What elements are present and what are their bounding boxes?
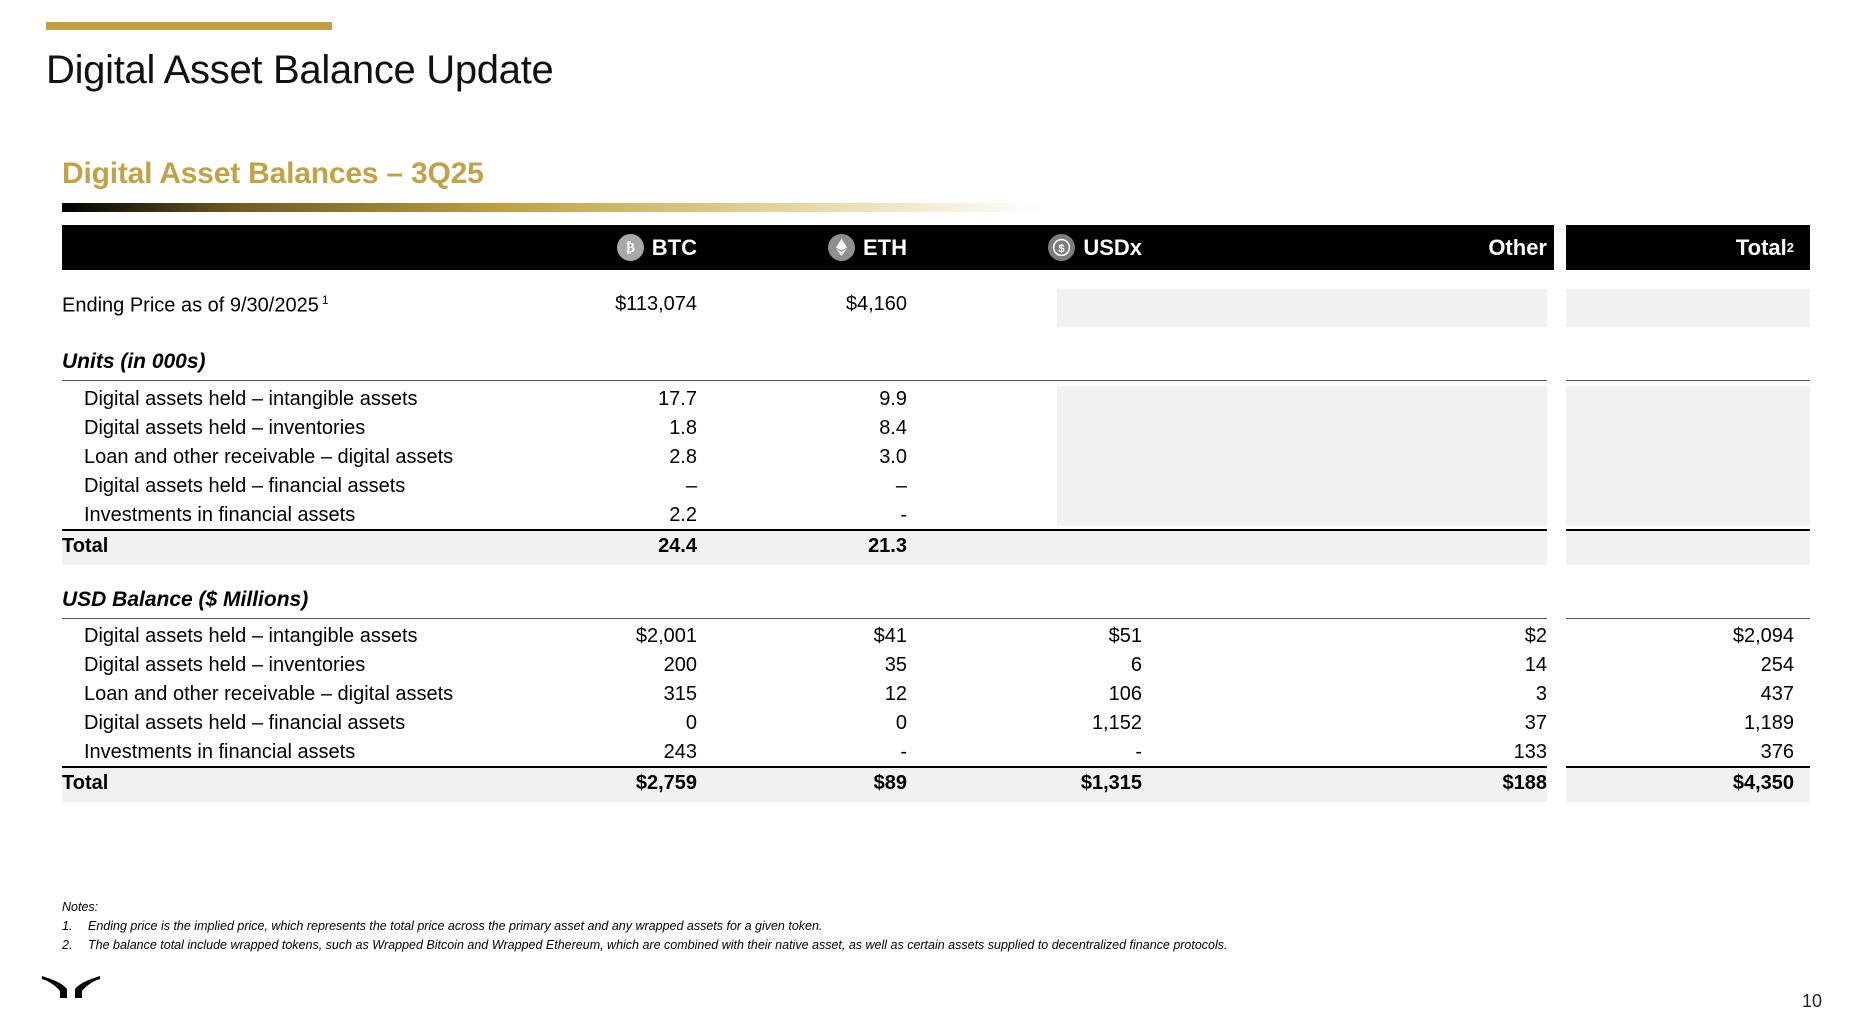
footnotes: Notes: 1. Ending price is the implied pr… [62,898,1362,954]
table-row: Digital assets held – inventories 200 35… [62,654,1802,683]
column-header-total-superscript: 2 [1787,240,1794,255]
cell-total: 254 [1566,654,1794,677]
column-header-total-label: Total [1736,235,1787,261]
table-row: Digital assets held – financial assets –… [62,475,1802,504]
section-rule-units-total [1566,380,1810,381]
footnote-text: Ending price is the implied price, which… [88,917,1362,936]
svg-text:₿: ₿ [626,240,635,255]
cell-eth: 12 [792,683,907,706]
cell-usdx: 106 [982,683,1142,706]
section-rule-units-left [62,380,1547,381]
cell-usdx: - [982,741,1142,764]
cell-other: 3 [1172,683,1547,706]
table-row: Digital assets held – intangible assets … [62,625,1802,654]
row-label: Loan and other receivable – digital asse… [84,683,453,706]
cell-price-btc: $113,074 [582,293,697,316]
cell-total-total: $4,350 [1566,772,1794,795]
cell-btc: 243 [582,741,697,764]
cell-eth: - [792,504,907,527]
row-label-ending-price: Ending Price as of 9/30/20251 [62,293,329,318]
cell-btc: 0 [582,712,697,735]
usd-coin-icon: $ [1048,234,1075,261]
cell-btc: 2.2 [582,504,697,527]
row-label: Digital assets held – intangible assets [84,625,418,648]
cell-eth: 35 [792,654,907,677]
cell-btc: 200 [582,654,697,677]
cell-other: $2 [1172,625,1547,648]
column-header-other-label: Other [1488,235,1547,261]
cell-total: 437 [1566,683,1794,706]
section-gradient-rule [62,203,1042,212]
cell-total-eth: 21.3 [792,535,907,558]
table-row-total-usd: Total $2,759 $89 $1,315 $188 $4,350 [62,772,1802,801]
cell-total-btc: $2,759 [582,772,697,795]
cell-eth: 3.0 [792,446,907,469]
footnote-item: 2. The balance total include wrapped tok… [62,936,1362,955]
row-label-superscript: 1 [322,293,329,307]
column-header-total: Total2 [1566,225,1794,270]
cell-usdx: 1,152 [982,712,1142,735]
cell-btc: 17.7 [582,388,697,411]
section-header-units: Units (in 000s) [62,350,206,374]
cell-eth: – [792,475,907,498]
cell-btc: $2,001 [582,625,697,648]
cell-total-eth: $89 [792,772,907,795]
table-row-total-units: Total 24.4 21.3 [62,535,1802,564]
cell-total-btc: 24.4 [582,535,697,558]
cell-eth: 0 [792,712,907,735]
cell-btc: – [582,475,697,498]
cell-eth: 9.9 [792,388,907,411]
column-header-usdx: $ USDx [982,225,1142,270]
section-rule-usd-left [62,618,1547,619]
row-label: Digital assets held – inventories [84,654,365,677]
bitcoin-icon: ₿ [617,234,644,261]
table-row-ending-price: Ending Price as of 9/30/20251 $113,074 $… [62,293,1802,322]
cell-usdx: 6 [982,654,1142,677]
table-row: Digital assets held – inventories 1.8 8.… [62,417,1802,446]
footnote-number: 2. [62,936,88,955]
cell-btc: 2.8 [582,446,697,469]
cell-eth: $41 [792,625,907,648]
row-label: Digital assets held – financial assets [84,712,405,735]
table-row: Digital assets held – financial assets 0… [62,712,1802,741]
column-header-other: Other [1172,225,1547,270]
cell-eth: 8.4 [792,417,907,440]
row-label-total: Total [62,772,108,795]
row-label: Investments in financial assets [84,504,355,527]
table-row: Loan and other receivable – digital asse… [62,683,1802,712]
footnote-item: 1. Ending price is the implied price, wh… [62,917,1362,936]
cell-total: $2,094 [1566,625,1794,648]
row-label: Investments in financial assets [84,741,355,764]
page-title: Digital Asset Balance Update [46,48,553,93]
footnote-text: The balance total include wrapped tokens… [88,936,1362,955]
column-header-eth-label: ETH [863,235,907,261]
svg-text:$: $ [1059,243,1066,255]
table-row: Loan and other receivable – digital asse… [62,446,1802,475]
ethereum-icon [828,234,855,261]
slide-canvas: Digital Asset Balance Update Digital Ass… [0,0,1858,1028]
row-label: Loan and other receivable – digital asse… [84,446,453,469]
row-label: Digital assets held – intangible assets [84,388,418,411]
section-title: Digital Asset Balances – 3Q25 [62,157,484,191]
section-rule-usd-total [1566,618,1810,619]
footnotes-title: Notes: [62,898,1362,917]
cell-btc: 315 [582,683,697,706]
cell-total-other: $188 [1172,772,1547,795]
cell-price-eth: $4,160 [792,293,907,316]
row-label: Digital assets held – financial assets [84,475,405,498]
table-row: Digital assets held – intangible assets … [62,388,1802,417]
cell-eth: - [792,741,907,764]
cell-total-usdx: $1,315 [982,772,1142,795]
section-header-usd-balance: USD Balance ($ Millions) [62,588,308,612]
cell-total: 376 [1566,741,1794,764]
cell-other: 133 [1172,741,1547,764]
company-logo-icon [40,972,102,1008]
row-label: Digital assets held – inventories [84,417,365,440]
cell-other: 37 [1172,712,1547,735]
page-number: 10 [1802,991,1822,1012]
title-accent-rule [46,22,332,30]
column-header-btc-label: BTC [652,235,697,261]
cell-usdx: $51 [982,625,1142,648]
footnote-number: 1. [62,917,88,936]
column-header-usdx-label: USDx [1083,235,1142,261]
cell-total: 1,189 [1566,712,1794,735]
column-header-eth: ETH [792,225,907,270]
cell-other: 14 [1172,654,1547,677]
row-label-total: Total [62,535,108,558]
cell-btc: 1.8 [582,417,697,440]
column-header-btc: ₿ BTC [582,225,697,270]
